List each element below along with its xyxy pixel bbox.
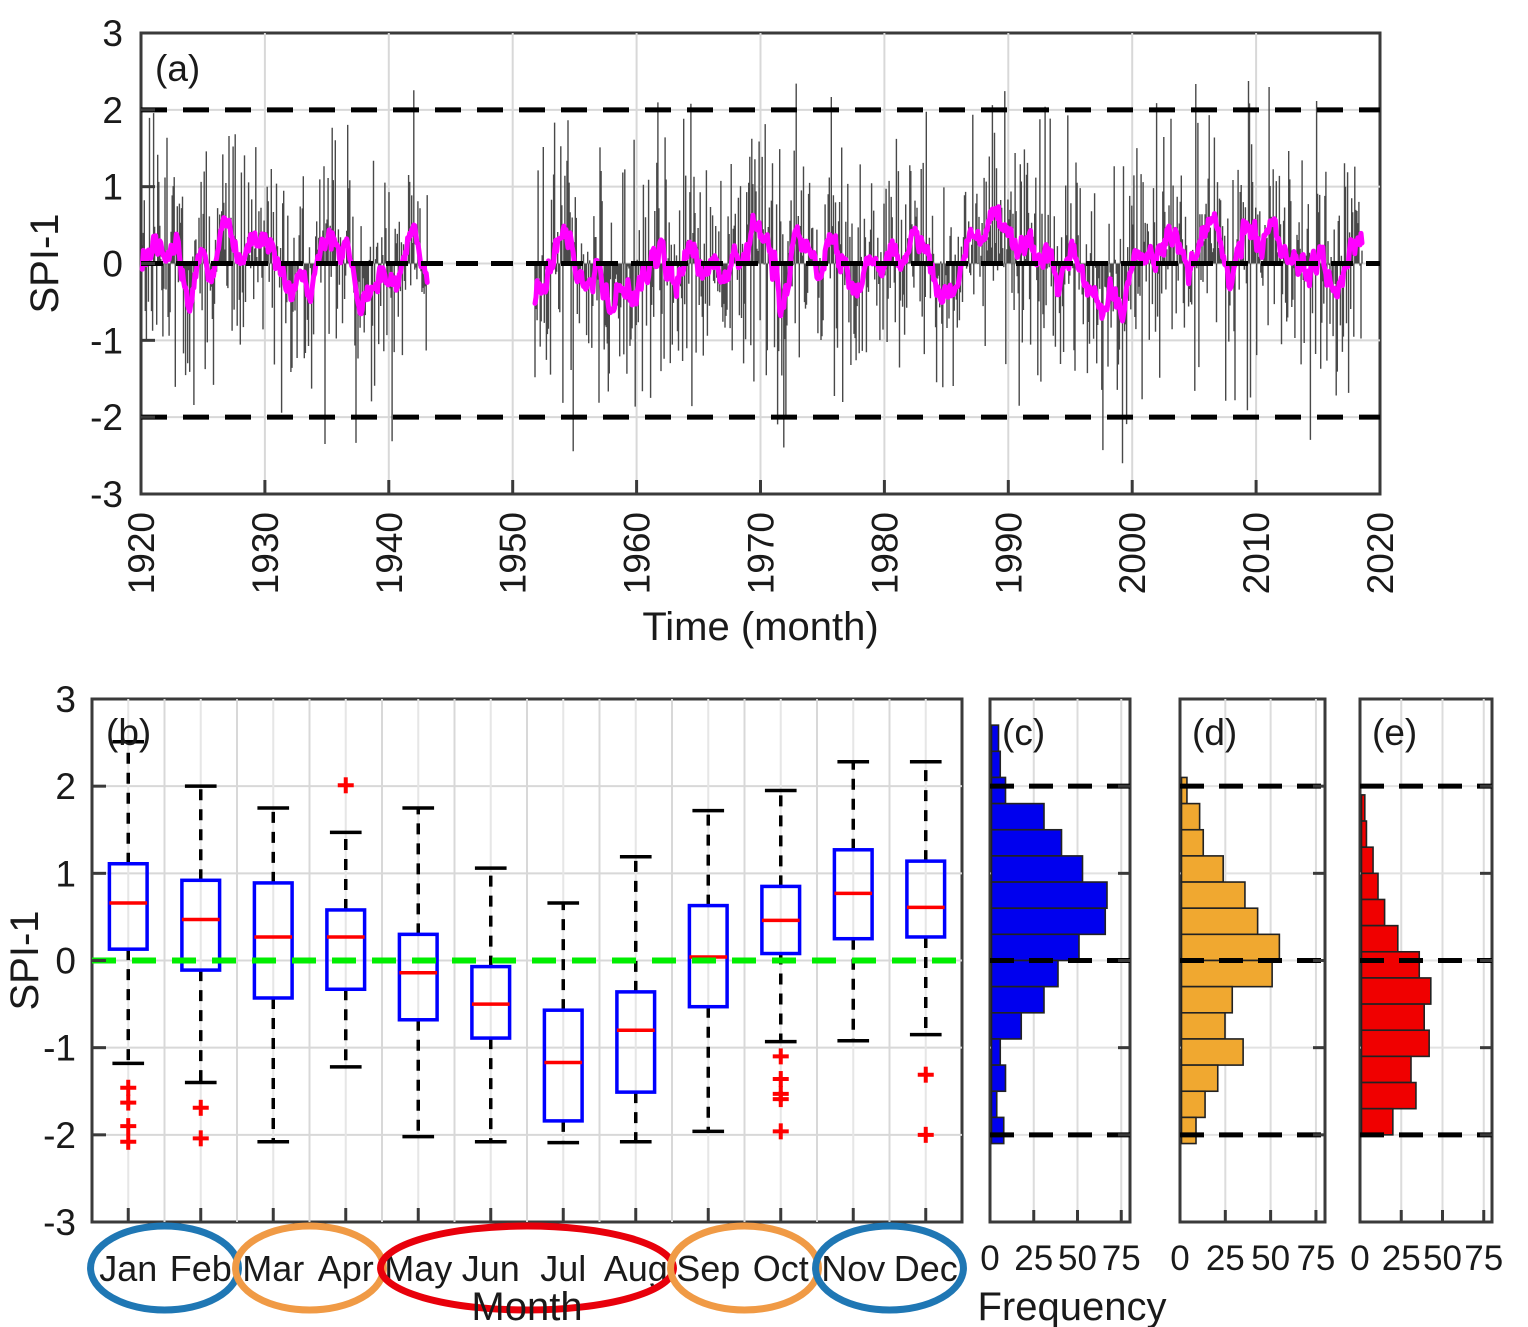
hist-xtick-label: 75 — [1102, 1239, 1141, 1278]
panel-a-ytick-label: -3 — [90, 474, 123, 515]
panel-b-xlabel: Month — [471, 1285, 582, 1327]
panel-a-xtick-label: 2000 — [1112, 512, 1153, 594]
panel-b-month-label-mar: Mar — [242, 1248, 304, 1289]
hist-bar — [992, 1039, 1001, 1065]
hist-bar — [992, 804, 1045, 830]
histogram-xlabel: Frequency — [978, 1285, 1167, 1327]
hist-xtick-label: 0 — [1170, 1239, 1189, 1278]
hist-bar — [1362, 1083, 1416, 1109]
panel-a-xtick-label: 1920 — [121, 512, 162, 594]
hist-bar — [1362, 978, 1431, 1004]
panel-a-xtick-label: 2020 — [1360, 512, 1401, 594]
panel-a-ytick-label: 3 — [102, 13, 123, 54]
hist-bar — [1182, 882, 1245, 908]
hist-bar — [992, 882, 1108, 908]
hist-bar — [1362, 1030, 1430, 1056]
hist-bar — [1182, 1039, 1244, 1065]
hist-bar — [1362, 1004, 1425, 1030]
panel-a-tag: (a) — [155, 48, 200, 89]
hist-bar — [1362, 899, 1385, 925]
panel-b-month-label-oct: Oct — [753, 1248, 809, 1289]
panel-b-month-label-jun: Jun — [462, 1248, 520, 1289]
hist-bar — [1182, 908, 1258, 934]
panel-b-ytick-label: -2 — [43, 1115, 76, 1156]
panel-a-xlabel: Time (month) — [642, 605, 878, 649]
panel-b-ytick-label: 2 — [55, 766, 76, 807]
hist-bar — [992, 908, 1106, 934]
hist-bar — [1182, 856, 1224, 882]
panel-a-ytick-label: -1 — [90, 320, 123, 361]
panel-c-tag: (c) — [1002, 712, 1045, 753]
hist-bar — [1362, 952, 1420, 978]
hist-xtick-label: 50 — [1251, 1239, 1290, 1278]
panel-a-xtick-label: 2010 — [1236, 512, 1277, 594]
hist-bar — [1362, 1109, 1393, 1135]
hist-bar — [992, 1091, 997, 1117]
panel-b-ytick-label: -1 — [43, 1028, 76, 1069]
panel-a-xtick-label: 1980 — [864, 512, 905, 594]
hist-bar — [1362, 795, 1365, 821]
panel-d-tag: (d) — [1192, 712, 1237, 753]
hist-bar — [992, 777, 1006, 803]
panel-b-month-label-nov: Nov — [821, 1248, 885, 1289]
panel-b-month-label-dec: Dec — [894, 1248, 958, 1289]
panel-b-month-label-apr: Apr — [318, 1248, 374, 1289]
hist-bar — [1182, 804, 1200, 830]
hist-bar — [992, 1117, 1004, 1143]
hist-bar — [992, 1013, 1022, 1039]
hist-xtick-label: 25 — [1382, 1239, 1421, 1278]
hist-bar — [1182, 830, 1204, 856]
hist-bar — [1182, 1013, 1226, 1039]
hist-bar — [992, 961, 1059, 987]
figure-root: -3-2-10123192019301940195019601970198019… — [0, 0, 1528, 1327]
panel-b-month-label-feb: Feb — [170, 1248, 232, 1289]
panel-a-ytick-label: -2 — [90, 397, 123, 438]
panel-a-ytick-label: 1 — [102, 167, 123, 208]
hist-bar — [1182, 1065, 1218, 1091]
hist-bar — [1362, 821, 1367, 847]
panel-a-ytick-label: 2 — [102, 90, 123, 131]
panel-e-tag: (e) — [1372, 712, 1417, 753]
hist-bar — [992, 856, 1083, 882]
panel-a-xtick-label: 1950 — [493, 512, 534, 594]
panel-b-month-label-sep: Sep — [676, 1248, 740, 1289]
panel-b-month-label-jan: Jan — [99, 1248, 157, 1289]
hist-bar — [992, 934, 1080, 960]
hist-bar — [1182, 934, 1280, 960]
panel-a-xtick-label: 1960 — [617, 512, 658, 594]
hist-bar — [1182, 1117, 1197, 1143]
panel-b-month-label-jul: Jul — [540, 1248, 586, 1289]
hist-xtick-label: 50 — [1058, 1239, 1097, 1278]
hist-xtick-label: 25 — [1206, 1239, 1245, 1278]
hist-bar — [1182, 987, 1233, 1013]
hist-bar — [992, 987, 1045, 1013]
panel-b-ytick-label: -3 — [43, 1202, 76, 1243]
panel-b-ytick-label: 3 — [55, 679, 76, 720]
hist-xtick-label: 50 — [1423, 1239, 1462, 1278]
hist-bar — [1182, 777, 1187, 803]
panel-a-ytick-label: 0 — [102, 244, 123, 285]
panel-b-ytick-label: 1 — [55, 853, 76, 894]
panel-b-ylabel: SPI-1 — [3, 910, 47, 1010]
hist-bar — [992, 1065, 1006, 1091]
panel-a-xtick-label: 1940 — [369, 512, 410, 594]
hist-bar — [1362, 926, 1398, 952]
hist-bar — [992, 725, 999, 751]
panel-a-xtick-label: 1970 — [741, 512, 782, 594]
hist-bar — [992, 830, 1062, 856]
panel-a-xtick-label: 1990 — [988, 512, 1029, 594]
hist-bar — [1182, 961, 1273, 987]
hist-xtick-label: 25 — [1014, 1239, 1053, 1278]
hist-xtick-label: 75 — [1296, 1239, 1335, 1278]
hist-bar — [992, 751, 1001, 777]
hist-bar — [1362, 847, 1374, 873]
scientific-figure: -3-2-10123192019301940195019601970198019… — [0, 0, 1528, 1327]
hist-bar — [1362, 873, 1379, 899]
panel-b-ytick-label: 0 — [55, 941, 76, 982]
hist-bar — [1182, 1091, 1206, 1117]
hist-xtick-label: 75 — [1464, 1239, 1503, 1278]
hist-xtick-label: 0 — [1350, 1239, 1369, 1278]
hist-xtick-label: 0 — [980, 1239, 999, 1278]
panel-a-xtick-label: 1930 — [245, 512, 286, 594]
hist-bar — [1362, 1056, 1412, 1082]
panel-a-ylabel: SPI-1 — [23, 213, 67, 313]
panel-b-tag: (b) — [106, 712, 151, 753]
